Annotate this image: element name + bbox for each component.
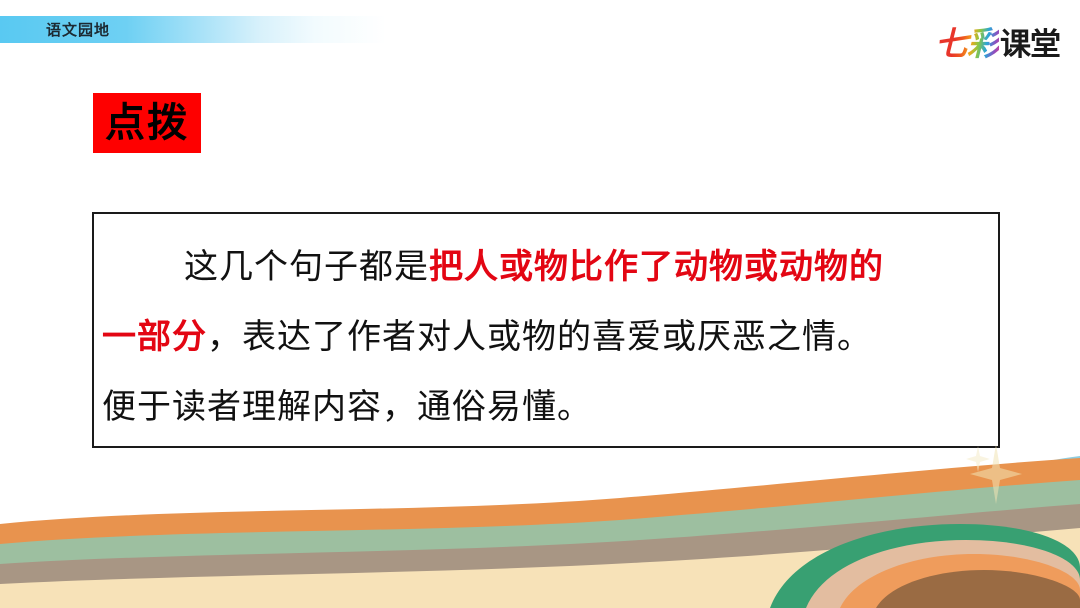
slide-canvas: 语文园地 七彩 课堂 点拨 这几个句子都是把人或物比作了动物或动物的 一部分，表… bbox=[0, 0, 1080, 608]
content-text-box: 这几个句子都是把人或物比作了动物或动物的 一部分，表达了作者对人或物的喜爱或厌恶… bbox=[92, 212, 1000, 448]
content-line-2: 一部分，表达了作者对人或物的喜爱或厌恶之情。 bbox=[102, 302, 986, 372]
arc-lightblue bbox=[700, 456, 1080, 608]
content-line-3-plain: 便于读者理解内容，通俗易懂。 bbox=[102, 387, 592, 427]
content-line-1-plain: 这几个句子都是 bbox=[184, 247, 429, 287]
arc-purple bbox=[800, 486, 1080, 608]
arc-green bbox=[770, 524, 1080, 608]
content-line-1-highlight: 把人或物比作了动物或动物的 bbox=[429, 247, 884, 287]
band-graybrown bbox=[0, 504, 1080, 608]
content-line-1: 这几个句子都是把人或物比作了动物或动物的 bbox=[102, 232, 986, 302]
section-tag-label: 点拨 bbox=[105, 103, 189, 143]
nested-arc-group bbox=[770, 524, 1080, 608]
arc-cream bbox=[850, 506, 1080, 608]
content-line-3: 便于读者理解内容，通俗易懂。 bbox=[102, 372, 986, 442]
page-title: 语文园地 bbox=[46, 18, 110, 42]
content-paragraph: 这几个句子都是把人或物比作了动物或动物的 一部分，表达了作者对人或物的喜爱或厌恶… bbox=[102, 232, 986, 442]
logo-text-colorful: 七彩 bbox=[935, 17, 999, 65]
arc-tan bbox=[806, 540, 1080, 608]
content-line-2-highlight: 一部分 bbox=[102, 317, 207, 357]
logo-text-black: 课堂 bbox=[1000, 19, 1060, 64]
bottom-decoration bbox=[0, 428, 1080, 608]
content-line-2-plain: ，表达了作者对人或物的喜爱或厌恶之情。 bbox=[207, 317, 872, 357]
decoration-waves bbox=[0, 428, 1080, 608]
band-cream bbox=[0, 528, 1080, 608]
brand-logo: 七彩 课堂 bbox=[935, 20, 1060, 62]
arc-orange bbox=[840, 554, 1080, 608]
rainbow-arc-group bbox=[700, 456, 1080, 608]
section-tag-dianbo: 点拨 bbox=[93, 93, 201, 153]
band-sage bbox=[0, 480, 1080, 608]
arc-brown bbox=[876, 570, 1080, 608]
band-orange bbox=[0, 458, 1080, 608]
arc-yellowgreen bbox=[890, 528, 1080, 608]
sparkle-icon bbox=[966, 442, 1026, 512]
